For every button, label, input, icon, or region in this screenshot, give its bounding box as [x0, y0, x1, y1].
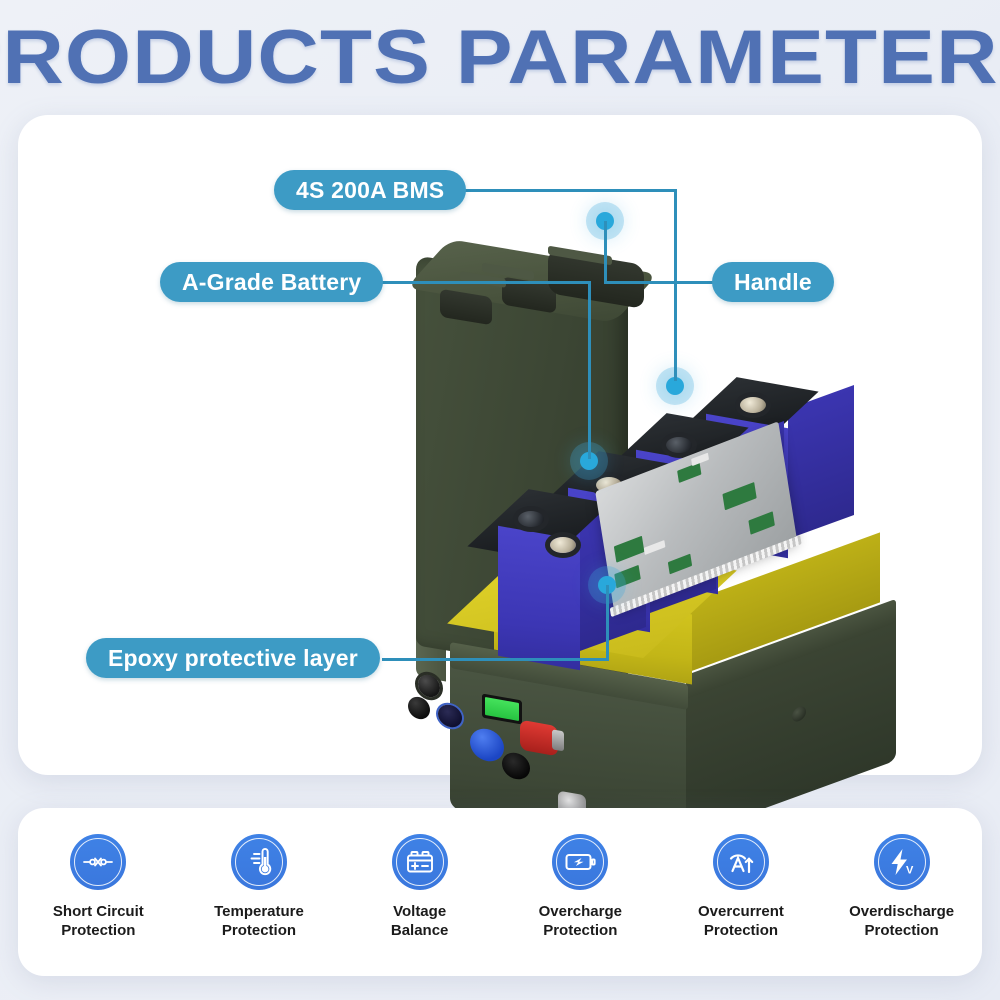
feature-label-line1: Overdischarge — [849, 902, 954, 921]
feature-label-line2: Protection — [698, 921, 784, 940]
feature-label: Overdischarge Protection — [849, 902, 954, 940]
callout-a-grade-battery[interactable]: A-Grade Battery — [160, 262, 383, 302]
feature-label-line1: Temperature — [214, 902, 304, 921]
feature-label-line2: Protection — [539, 921, 622, 940]
lead-epoxy-horizontal — [382, 658, 609, 661]
lead-handle-horizontal — [604, 281, 716, 284]
lead-battery-horizontal — [356, 281, 591, 284]
feature-label: Temperature Protection — [214, 902, 304, 940]
page-title: PRODUCTS PARAMETERS — [0, 18, 1000, 98]
features-row: Short Circuit Protection Temper — [18, 808, 982, 976]
feature-label: Short Circuit Protection — [53, 902, 144, 940]
product-illustration — [398, 245, 958, 865]
battery-balance-icon — [392, 834, 448, 890]
lead-battery-vertical — [588, 281, 591, 459]
short-circuit-icon — [70, 834, 126, 890]
feature-temperature[interactable]: Temperature Protection — [184, 834, 334, 940]
feature-label-line2: Protection — [53, 921, 144, 940]
lead-bms-vertical — [674, 189, 677, 381]
feature-label-line2: Balance — [391, 921, 449, 940]
product-image-card: Handle 4S 200A BMS A-Grade Battery Epoxy… — [18, 115, 982, 775]
feature-label: Overcurrent Protection — [698, 902, 784, 940]
feature-label-line1: Overcurrent — [698, 902, 784, 921]
svg-text:V: V — [906, 865, 914, 877]
ampere-arrow-icon — [713, 834, 769, 890]
feature-voltage-balance[interactable]: Voltage Balance — [345, 834, 495, 940]
feature-short-circuit[interactable]: Short Circuit Protection — [23, 834, 173, 940]
lead-epoxy-vertical — [606, 585, 609, 661]
feature-label-line2: Protection — [214, 921, 304, 940]
feature-label-line1: Overcharge — [539, 902, 622, 921]
feature-label: Overcharge Protection — [539, 902, 622, 940]
feature-label: Voltage Balance — [391, 902, 449, 940]
lead-handle-vertical — [604, 221, 607, 283]
thermometer-icon — [231, 834, 287, 890]
battery-bolt-icon — [552, 834, 608, 890]
feature-label-line2: Protection — [849, 921, 954, 940]
bolt-volt-icon: V — [874, 834, 930, 890]
callout-bms[interactable]: 4S 200A BMS — [274, 170, 466, 210]
lead-bms-horizontal — [438, 189, 677, 192]
callout-handle[interactable]: Handle — [712, 262, 834, 302]
feature-overdischarge[interactable]: V Overdischarge Protection — [827, 834, 977, 940]
callout-epoxy[interactable]: Epoxy protective layer — [86, 638, 380, 678]
page-title-wrap: PRODUCTS PARAMETERS — [0, 18, 1000, 98]
feature-label-line1: Short Circuit — [53, 902, 144, 921]
infographic-page: PRODUCTS PARAMETERS — [0, 0, 1000, 1000]
panel-connector-b — [408, 695, 430, 721]
feature-overcharge[interactable]: Overcharge Protection — [505, 834, 655, 940]
feature-overcurrent[interactable]: Overcurrent Protection — [666, 834, 816, 940]
feature-label-line1: Voltage — [391, 902, 449, 921]
